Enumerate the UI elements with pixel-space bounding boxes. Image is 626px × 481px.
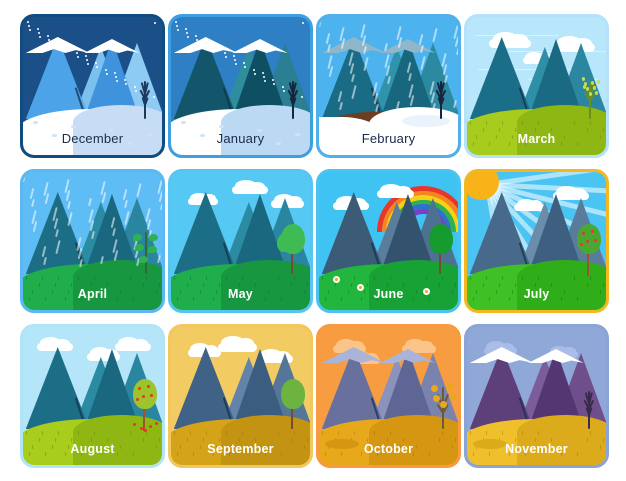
snow-dot	[38, 32, 40, 34]
month-label-august: August	[23, 442, 162, 456]
snow-dot	[57, 42, 59, 44]
snow-dot	[263, 76, 265, 78]
snow-dot	[244, 66, 246, 68]
rain-drop	[67, 201, 70, 209]
leafy-tree	[279, 379, 305, 429]
snow-dot	[225, 56, 227, 58]
snow-dot	[253, 69, 255, 71]
snow-dot	[77, 56, 79, 58]
fruit-tree	[131, 379, 157, 431]
fruit-berry	[591, 230, 594, 233]
snow-dot	[187, 36, 189, 38]
leaf-bud	[582, 77, 585, 81]
leaf-bud	[583, 85, 586, 89]
snow-dot	[115, 76, 117, 78]
rain-drop	[160, 202, 162, 210]
tree-foliage	[133, 379, 157, 409]
tree-foliage	[577, 224, 601, 254]
bare-tree	[579, 385, 599, 429]
month-label-april: April	[23, 287, 162, 301]
tree-foliage	[277, 234, 291, 252]
rain-drop	[88, 198, 91, 206]
tree-leaf	[148, 246, 157, 253]
fruit-berry	[142, 395, 145, 398]
snow-mark	[33, 121, 38, 124]
rain-drop	[432, 28, 437, 42]
snow-dot	[233, 55, 235, 57]
snow-dot	[185, 28, 187, 30]
snow-dot	[27, 21, 29, 23]
fruit-berry	[147, 385, 150, 388]
snow-dot	[206, 46, 208, 48]
fruit-tree	[575, 224, 601, 276]
snow-dot	[214, 45, 216, 47]
snow-dot	[47, 35, 49, 37]
sapling-tree	[135, 228, 157, 274]
snow-mark	[219, 125, 224, 128]
snow-dot	[95, 62, 97, 64]
month-label-january: January	[171, 131, 310, 146]
month-card-august[interactable]: August	[20, 324, 165, 468]
rain-drop	[23, 174, 26, 182]
sand-patch	[415, 431, 439, 439]
month-label-february: February	[319, 131, 458, 146]
tree-foliage	[281, 379, 305, 409]
snow-dot	[273, 83, 275, 85]
snow-dot	[67, 49, 69, 51]
snow-dot	[262, 72, 264, 74]
autumn-leaf	[440, 401, 447, 408]
cloud-icon	[489, 39, 531, 48]
snow-dot	[96, 66, 98, 68]
snow-dot	[105, 69, 107, 71]
snow-dot	[39, 36, 41, 38]
month-card-october[interactable]: October	[316, 324, 461, 468]
rain-drop	[136, 183, 141, 197]
tree-trunk	[145, 232, 147, 274]
snow-dot	[154, 22, 156, 24]
snow-dot	[124, 79, 126, 81]
tree-leaf	[135, 244, 144, 251]
month-card-july[interactable]: July	[464, 169, 609, 313]
snow-dot	[66, 45, 68, 47]
snow-dot	[235, 63, 237, 65]
month-label-july: July	[467, 287, 606, 301]
snow-dot	[56, 38, 58, 40]
month-card-april[interactable]: April	[20, 169, 165, 313]
rain-drop	[102, 192, 106, 203]
budding-tree	[579, 73, 601, 119]
snow-dot	[37, 28, 39, 30]
month-label-march: March	[467, 132, 606, 146]
tree-leaf	[139, 256, 148, 263]
fallen-fruit	[149, 425, 152, 428]
snow-dot	[48, 39, 50, 41]
leaf-bud	[591, 81, 594, 85]
rain-drop	[443, 64, 447, 75]
snow-dot	[176, 25, 178, 27]
autumn-leaf	[431, 385, 438, 392]
snow-dot	[28, 25, 30, 27]
snow-mark	[181, 121, 186, 124]
fallen-fruit	[144, 429, 147, 432]
rain-drop	[45, 193, 49, 204]
tree-leaf	[149, 234, 158, 241]
month-card-january[interactable]: January	[168, 14, 313, 158]
bare-tree	[431, 75, 451, 119]
leaf-bud	[595, 91, 598, 95]
snow-dot	[272, 79, 274, 81]
rain-drop	[319, 19, 322, 27]
snow-dot	[264, 80, 266, 82]
snow-dot	[29, 29, 31, 31]
bare-tree	[135, 75, 155, 119]
rain-drop	[31, 199, 34, 207]
autumn-tree	[431, 381, 455, 429]
month-card-december[interactable]: December	[20, 14, 165, 158]
snow-dot	[177, 29, 179, 31]
snow-dot	[186, 32, 188, 34]
fruit-berry	[580, 243, 583, 246]
snow-dot	[106, 73, 108, 75]
rain-drop	[456, 47, 458, 55]
snow-mark	[71, 125, 76, 128]
rain-drop	[326, 33, 330, 44]
tree-leaf	[133, 234, 142, 241]
fallen-fruit	[155, 422, 158, 425]
snow-dot	[76, 52, 78, 54]
bare-tree	[283, 75, 303, 119]
snow-dot	[224, 52, 226, 54]
autumn-leaf	[446, 383, 453, 390]
rain-drop	[66, 190, 70, 201]
snow-dot	[205, 42, 207, 44]
snow-dot	[86, 59, 88, 61]
month-label-november: November	[467, 442, 606, 456]
leaf-bud	[589, 92, 592, 96]
month-card-february[interactable]: February	[316, 14, 461, 158]
month-card-june[interactable]: June	[316, 169, 461, 313]
leaf-bud	[593, 86, 596, 90]
month-card-november[interactable]: November	[464, 324, 609, 468]
rain-drop	[419, 34, 423, 45]
fallen-fruit	[133, 423, 136, 426]
cloud-icon	[232, 186, 268, 194]
cloud-icon	[115, 343, 151, 351]
month-card-september[interactable]: September	[168, 324, 313, 468]
rain-drop	[123, 189, 127, 200]
snow-dot	[125, 83, 127, 85]
autumn-leaf	[450, 393, 457, 400]
month-label-may: May	[171, 287, 310, 301]
month-label-june: June	[319, 287, 458, 301]
leafy-tree	[427, 224, 453, 274]
snow-dot	[204, 38, 206, 40]
fallen-fruit	[140, 427, 143, 430]
snow-dot	[196, 39, 198, 41]
snow-dot	[85, 55, 87, 57]
cloud-icon	[514, 204, 545, 211]
month-label-december: December	[23, 131, 162, 146]
snow-dot	[58, 46, 60, 48]
fruit-berry	[150, 394, 153, 397]
fruit-berry	[586, 240, 589, 243]
rain-drop	[124, 200, 127, 208]
fruit-berry	[594, 239, 597, 242]
leaf-bud	[597, 80, 600, 84]
fruit-berry	[582, 232, 585, 235]
month-card-may[interactable]: May	[168, 169, 313, 313]
rain-drop	[33, 221, 37, 232]
snow-dot	[114, 72, 116, 74]
months-grid: DecemberJanuaryFebruaryMarchAprilMayJune…	[20, 14, 608, 468]
cloud-icon	[553, 192, 589, 200]
month-label-september: September	[171, 442, 310, 456]
fruit-berry	[138, 387, 141, 390]
rain-drop	[30, 188, 34, 199]
sand-patch	[563, 431, 587, 439]
snow-dot	[116, 80, 118, 82]
flower-icon	[333, 276, 340, 283]
snow-dot	[87, 63, 89, 65]
autumn-leaf	[433, 395, 440, 402]
snow-dot	[234, 59, 236, 61]
leafy-tree	[279, 224, 305, 274]
snow-dot	[254, 73, 256, 75]
cloud-icon	[218, 343, 257, 352]
snow-dot	[195, 35, 197, 37]
snow-dot	[175, 21, 177, 23]
month-label-october: October	[319, 442, 458, 456]
fruit-berry	[136, 398, 139, 401]
cloud-icon	[37, 343, 73, 351]
snow-dot	[243, 62, 245, 64]
snow-dot	[215, 49, 217, 51]
month-card-march[interactable]: March	[464, 14, 609, 158]
tree-foliage	[429, 224, 453, 254]
snow-dot	[302, 22, 304, 24]
rain-drop	[329, 66, 333, 77]
